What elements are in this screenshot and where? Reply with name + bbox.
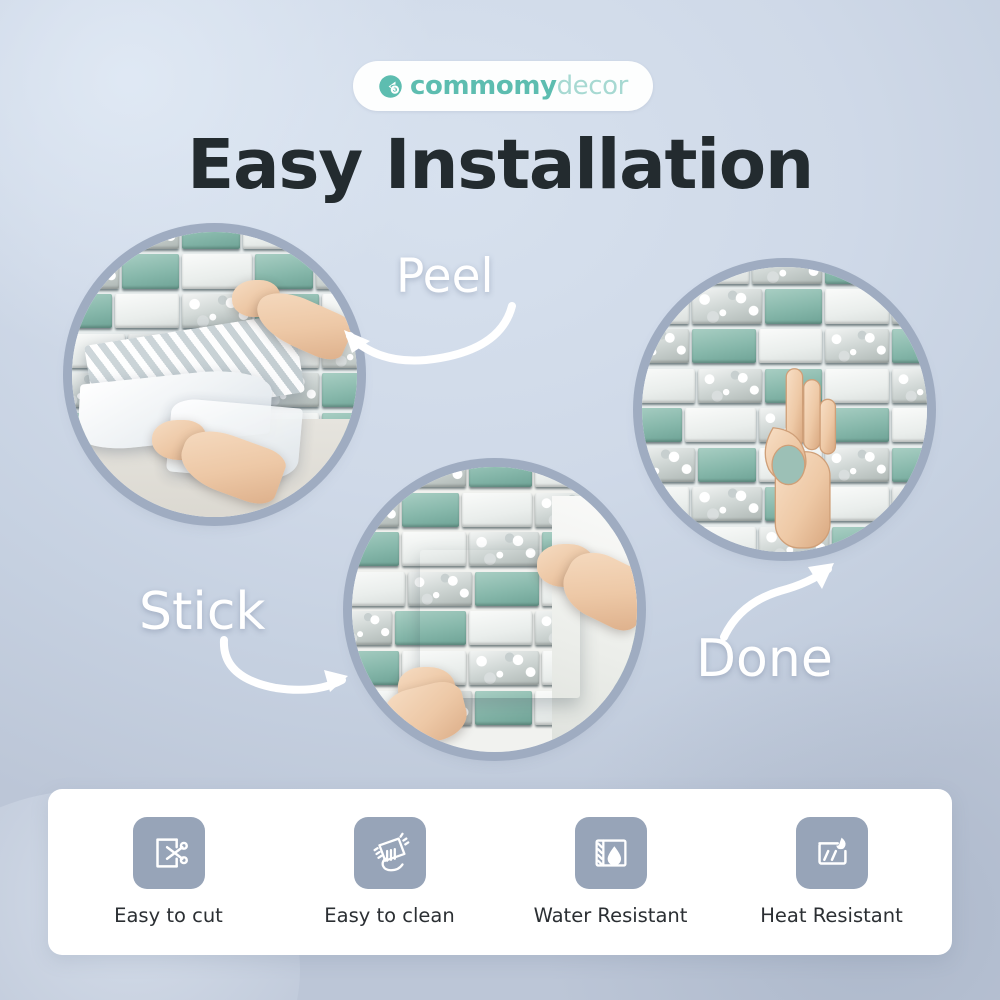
- feature-water-resistant: Water Resistant: [503, 817, 718, 927]
- brand-wordmark: commomydecor: [410, 73, 628, 99]
- feature-easy-to-clean: Easy to clean: [282, 817, 497, 927]
- feature-heat-resistant: Heat Resistant: [724, 817, 939, 927]
- ok-hand-gesture-icon: [736, 347, 867, 552]
- hand-wipe-clean-icon: [354, 817, 426, 889]
- water-droplet-icon: [575, 817, 647, 889]
- photo-stick-tile-sheet-to-wall: [352, 467, 637, 752]
- flame-heat-icon: [796, 817, 868, 889]
- feature-label: Water Resistant: [534, 904, 688, 927]
- feature-label: Heat Resistant: [760, 904, 902, 927]
- brand-name-light: decor: [557, 71, 628, 101]
- curved-arrow-left-icon: [330, 300, 520, 370]
- curved-arrow-right-icon: [216, 636, 356, 698]
- scissors-cut-icon: [133, 817, 205, 889]
- brand-logo: commomydecor: [353, 61, 653, 111]
- curved-arrow-up-right-icon: [718, 557, 848, 647]
- commomy-circle-arrow-icon: [378, 74, 403, 99]
- photo-done-ok-hand-gesture: [642, 267, 927, 552]
- step-label-peel: Peel: [396, 253, 494, 300]
- feature-highlights-card: Easy to cut Easy to clean: [48, 789, 952, 955]
- step-label-stick: Stick: [139, 586, 266, 638]
- feature-label: Easy to clean: [324, 904, 454, 927]
- photo-peel-backing-from-tile-sheet: [72, 232, 357, 517]
- feature-label: Easy to cut: [114, 904, 223, 927]
- feature-easy-to-cut: Easy to cut: [61, 817, 276, 927]
- infographic-page: commomydecor Easy Installation: [0, 0, 1000, 1000]
- page-title: Easy Installation: [0, 131, 1000, 200]
- brand-name-bold: commomy: [410, 71, 557, 101]
